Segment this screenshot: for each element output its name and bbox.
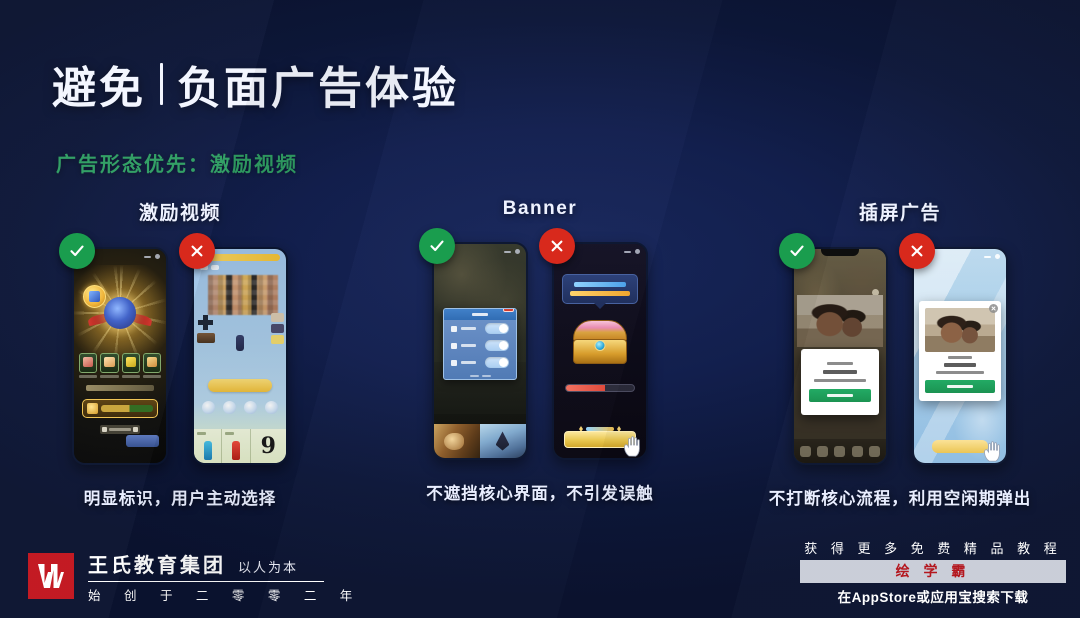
rewarded-video-reward-screen: [74, 249, 166, 463]
phone-frame: [912, 247, 1008, 465]
casual-game-pixelated-ad-overlay: 9: [194, 249, 286, 463]
phone-mock-good: [792, 247, 888, 465]
setting-row-vibration: [444, 354, 516, 371]
promo-brand-bar: 绘 学 霸: [800, 560, 1066, 583]
music-icon: [451, 326, 457, 332]
bottom-banner-ad[interactable]: [434, 424, 526, 458]
setting-row-sound: [444, 337, 516, 354]
interstitial-modal: [919, 301, 1001, 401]
phone-mock-bad: [912, 247, 1008, 465]
cross-icon: [899, 233, 935, 269]
modal-cta-button[interactable]: [809, 389, 871, 402]
watch-ad-progress: [101, 405, 153, 412]
phone-frame: [432, 242, 528, 460]
setting-row-music: [444, 320, 516, 337]
app-promo-block: 获 得 更 多 免 费 精 品 教 程 绘 学 霸 在AppStore或应用宝搜…: [800, 538, 1066, 606]
phone-mock-bad: 9: [192, 247, 288, 465]
wangshi-w-logo-icon: [28, 553, 74, 599]
game-action-button[interactable]: [932, 440, 988, 453]
promo-brand-name: 绘 学 霸: [896, 563, 971, 579]
status-indicators: [504, 249, 520, 254]
side-items: [271, 313, 284, 344]
brand-logo-block: 王氏教育集团 以人为本 始 创 于 二 零 零 二 年: [28, 549, 362, 605]
comparison-columns: 激励视频: [0, 198, 1080, 528]
setting-label: [461, 361, 476, 364]
phone-mock-good: [432, 242, 528, 460]
column-title: 插屏广告: [859, 198, 941, 225]
game-ability-buttons[interactable]: [202, 401, 278, 414]
phone-mock-good: [72, 247, 168, 465]
settings-dialog-with-bottom-banner: [434, 244, 526, 458]
modal-line-2: [823, 370, 857, 374]
treasure-chest-icon: [573, 320, 627, 364]
promo-download-hint: 在AppStore或应用宝搜索下载: [838, 586, 1029, 606]
ad-photo: [925, 308, 995, 352]
phone-frame: [552, 242, 648, 460]
modal-line-3: [814, 379, 866, 382]
status-indicators: [984, 254, 1000, 259]
brand-logo-text: 王氏教育集团 以人为本 始 创 于 二 零 零 二 年: [88, 549, 362, 605]
chest-gem: [595, 340, 606, 351]
confirm-button[interactable]: [126, 435, 159, 447]
modal-line-1: [948, 356, 972, 359]
brand-name: 王氏教育集团: [88, 549, 226, 578]
vibration-icon: [451, 360, 457, 366]
reward-item-row: [79, 353, 161, 373]
phone-pair: [792, 247, 1008, 465]
phone-frame: [792, 247, 888, 465]
cross-icon: [179, 233, 215, 269]
game-bottom-bar: 9: [194, 429, 286, 463]
reward-item-labels: [79, 375, 161, 378]
column-caption: 不打断核心流程，利用空闲期弹出: [769, 485, 1032, 509]
modal-line-1: [827, 362, 853, 365]
fullscreen-chest-ad-blocking-ui: [554, 244, 646, 458]
ad-label-checkbox[interactable]: [100, 425, 140, 434]
hero-character: [104, 297, 136, 329]
brand-founded-year: 始 创 于 二 零 零 二 年: [88, 585, 362, 604]
coin-icon: [83, 285, 106, 308]
close-icon[interactable]: [989, 304, 998, 313]
page-title-rest: 负面广告体验: [177, 52, 459, 116]
column-caption: 不遮挡核心界面，不引发误触: [426, 480, 654, 504]
plus-icon: [198, 315, 213, 330]
check-icon: [59, 233, 95, 269]
check-icon: [419, 228, 455, 264]
phone-pair: [432, 242, 648, 460]
check-icon: [779, 233, 815, 269]
interstitial-modal-on-idle-screen: [794, 249, 886, 463]
divider: [88, 581, 324, 583]
phone-mock-bad: [552, 242, 648, 460]
phone-notch: [821, 249, 859, 256]
status-indicators: [624, 249, 640, 254]
watch-ad-button[interactable]: [82, 399, 158, 418]
bottom-slot-blue: [194, 429, 222, 463]
vibration-toggle[interactable]: [485, 357, 509, 368]
dialog-footer: [444, 375, 516, 377]
reward-description: [86, 385, 154, 391]
speech-bubble: [562, 274, 638, 304]
promo-headline: 获 得 更 多 免 费 精 品 教 程: [804, 538, 1062, 557]
video-icon: [87, 403, 98, 414]
brand-slogan: 以人为本: [238, 557, 298, 576]
phone-pair: 9: [72, 247, 288, 465]
title-separator: [160, 63, 163, 105]
interstitial-modal-interrupting-gameplay: [914, 249, 1006, 463]
column-banner: Banner: [360, 198, 720, 528]
bottom-slot-red: [222, 429, 250, 463]
modal-line-3: [936, 371, 984, 374]
column-title: Banner: [503, 198, 577, 220]
game-bottom-toolbar[interactable]: [794, 439, 886, 463]
slide-canvas: 避免 负面广告体验 广告形态优先：激励视频 激励视频: [0, 0, 1080, 618]
game-action-button[interactable]: [208, 379, 272, 392]
page-title: 避免 负面广告体验: [52, 52, 459, 116]
reward-progress-bar: [565, 384, 635, 392]
column-rewarded-video: 激励视频: [0, 198, 360, 528]
page-subtitle: 广告形态优先：激励视频: [56, 148, 298, 177]
interstitial-modal: [801, 349, 879, 415]
bottom-counter: 9: [251, 429, 286, 463]
column-caption: 明显标识，用户主动选择: [84, 485, 277, 509]
setting-label: [461, 344, 476, 347]
banner-creative-left: [434, 424, 480, 458]
close-icon[interactable]: [503, 308, 514, 312]
phone-frame: 9: [192, 247, 288, 465]
modal-cta-button[interactable]: [925, 380, 995, 393]
brand-name-row: 王氏教育集团 以人为本: [88, 549, 362, 578]
settings-dialog: [443, 308, 517, 380]
page-title-main: 避免: [52, 52, 146, 116]
intrusive-ad-overlay[interactable]: [208, 275, 278, 315]
hand-cursor-icon: [982, 440, 1002, 462]
column-title: 激励视频: [139, 198, 221, 225]
column-interstitial: 插屏广告: [720, 198, 1080, 528]
hand-cursor-icon: [622, 435, 642, 457]
cross-icon: [539, 228, 575, 264]
player-character: [236, 335, 244, 351]
sound-icon: [451, 343, 457, 349]
game-obstacle: [197, 333, 215, 343]
music-toggle[interactable]: [485, 323, 509, 334]
status-indicators: [144, 254, 160, 259]
banner-creative-right: [480, 424, 526, 458]
sound-toggle[interactable]: [485, 340, 509, 351]
modal-line-2: [944, 363, 976, 367]
setting-label: [461, 327, 476, 330]
phone-frame: [72, 247, 168, 465]
